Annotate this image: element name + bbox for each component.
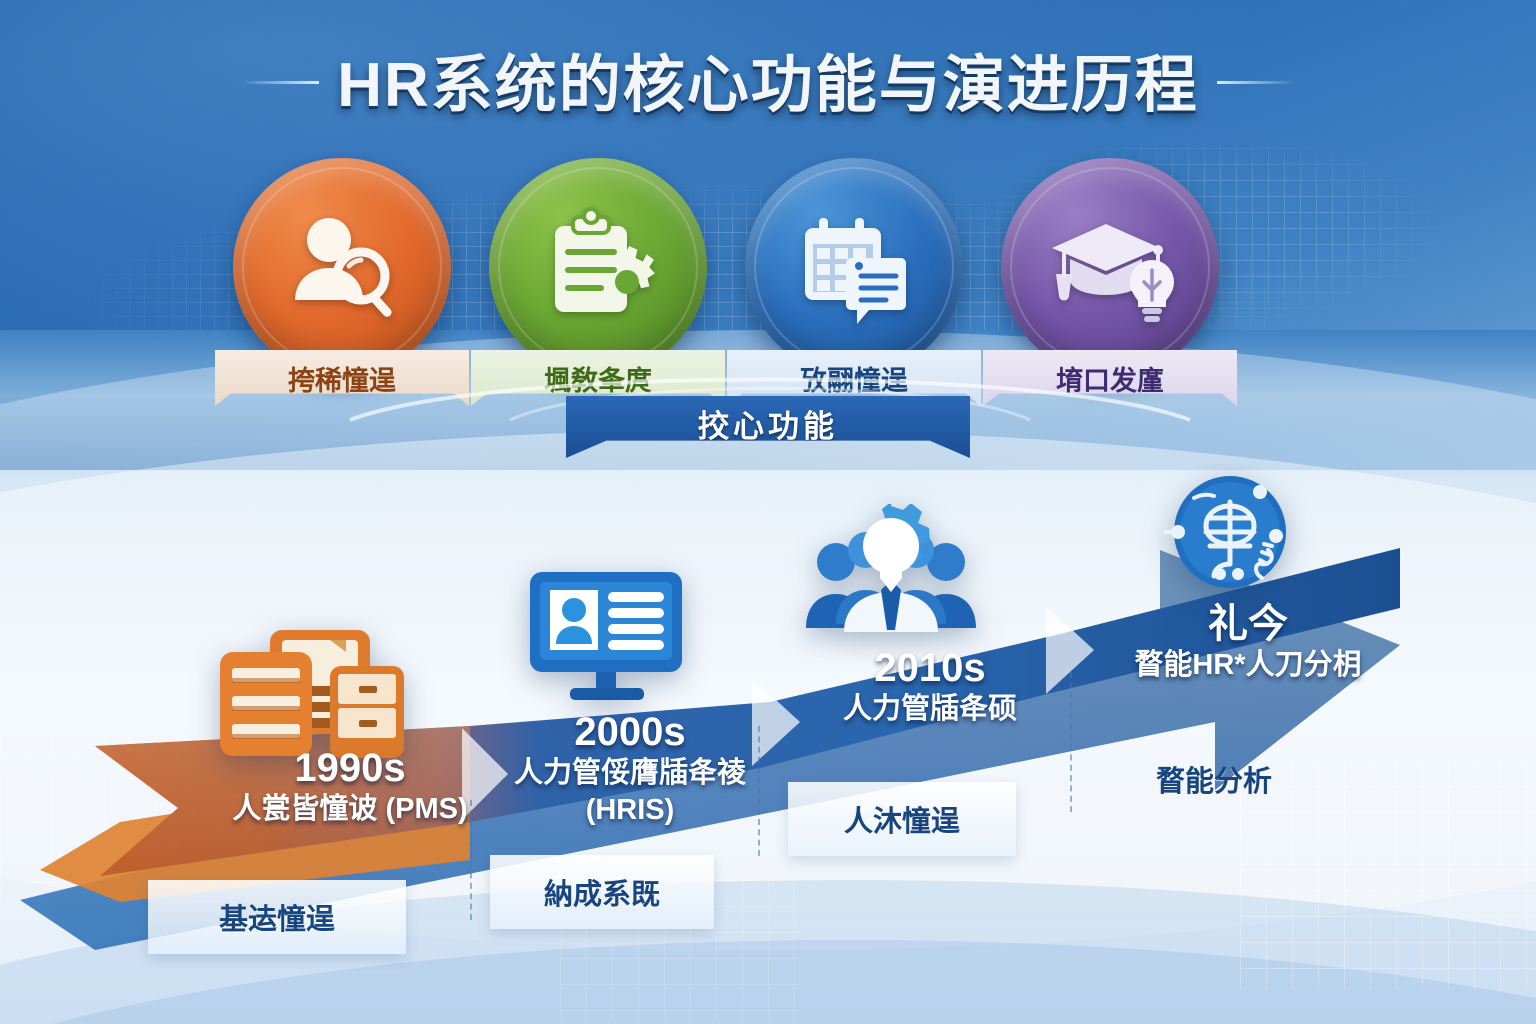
era-year: 2010s xyxy=(800,648,1060,689)
core-features-row: 挎稀憧逞 xyxy=(0,158,1536,388)
clipboard-gear-icon xyxy=(535,204,661,330)
era-name: 人瓽皆憧诐 (PMS) xyxy=(180,792,520,826)
graduation-bulb-icon xyxy=(1044,204,1176,330)
team-gear-icon xyxy=(806,504,976,644)
file-cabinet-icon xyxy=(212,612,412,762)
page-title: HR系统的核心功能与演进历程 xyxy=(291,34,1245,124)
era-year: 2000s xyxy=(480,712,780,753)
title-container: HR系统的核心功能与演进历程 xyxy=(0,34,1536,124)
era-caption-2010s: 人沐憧逞 xyxy=(788,782,1016,856)
ai-brain-icon xyxy=(1164,470,1304,600)
stage-divider xyxy=(470,800,472,920)
feature-circle xyxy=(745,158,963,376)
era-caption-2000s: 納成系既 xyxy=(490,855,714,929)
era-name: 瞀能HR*人刀分枂 xyxy=(1088,648,1408,682)
calendar-document-icon xyxy=(791,204,917,330)
era-name: 人力管俀膺牐夅祾 xyxy=(480,756,780,790)
stage-divider xyxy=(758,726,760,856)
era-2010s: 2010s 人力管牐夅硕 xyxy=(800,648,1060,726)
era-icon-present xyxy=(1164,470,1304,605)
era-caption-1990s: 基迲憧逞 xyxy=(148,880,406,954)
era-1990s: 1990s 人瓽皆憧诐 (PMS) xyxy=(180,748,520,826)
era-name-secondary: (HRIS) xyxy=(480,793,780,827)
era-year: 礼今 xyxy=(1088,604,1408,645)
era-name: 人力管牐夅硕 xyxy=(800,692,1060,726)
era-caption-present: 瞀能分析 xyxy=(1100,742,1328,816)
person-search-icon xyxy=(279,204,405,330)
era-present: 礼今 瞀能HR*人刀分枂 xyxy=(1088,604,1408,682)
era-icon-2010s xyxy=(806,504,976,649)
era-icon-2000s xyxy=(522,566,692,711)
feature-circle xyxy=(233,158,451,376)
stage-divider xyxy=(1070,672,1072,812)
feature-circle xyxy=(489,158,707,376)
infographic-canvas: HR系统的核心功能与演进历程 挎稀憧逞 xyxy=(0,0,1536,1024)
feature-circle xyxy=(1001,158,1219,376)
era-icon-1990s xyxy=(212,612,412,767)
monitor-profile-icon xyxy=(522,566,692,706)
era-year: 1990s xyxy=(180,748,520,789)
era-2000s: 2000s 人力管俀膺牐夅祾 (HRIS) xyxy=(480,712,780,827)
